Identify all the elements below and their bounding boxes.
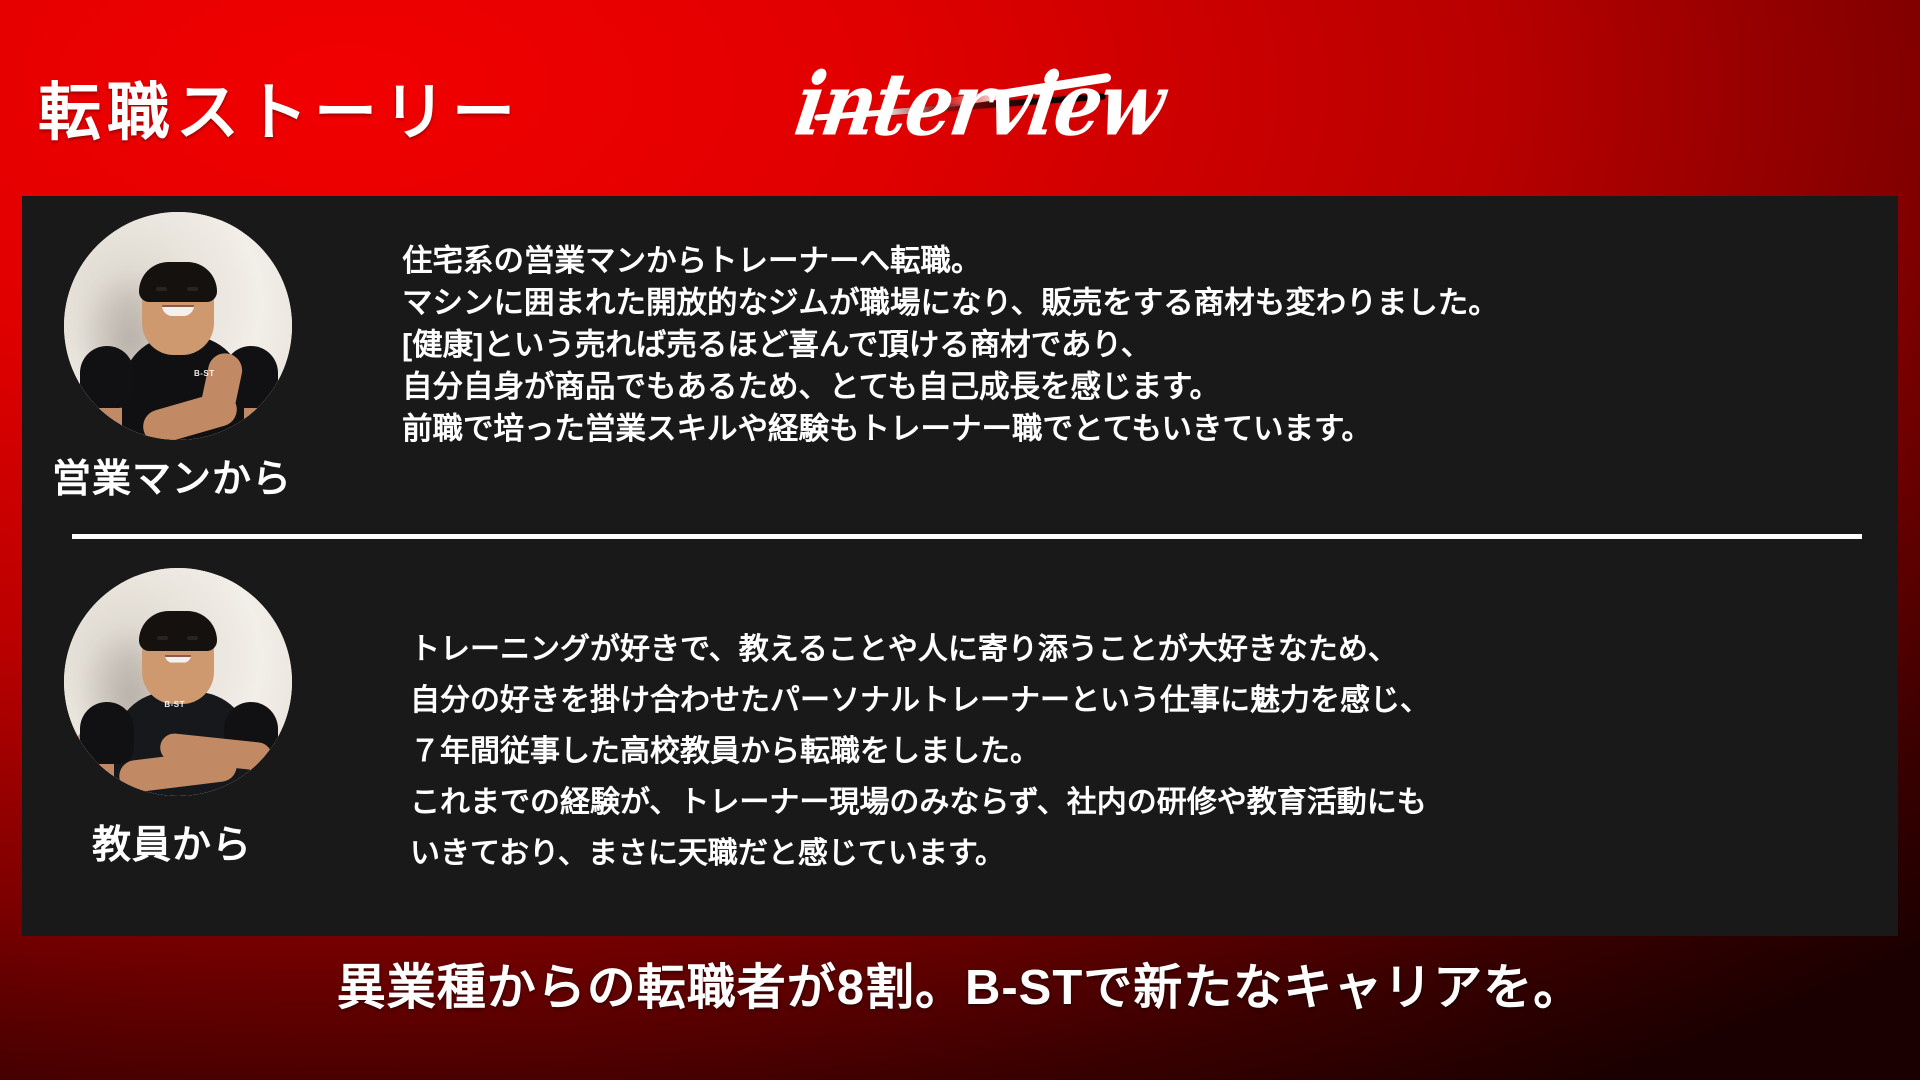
testimonial-text: 住宅系の営業マンからトレーナーへ転職。 マシンに囲まれた開放的なジムが職場になり…: [322, 196, 1898, 450]
quote-line: トレーニングが好きで、教えることや人に寄り添うことが大好きなため、: [410, 624, 1898, 675]
shirt-logo: B-ST: [164, 700, 185, 709]
testimonial-panel: B-ST 営業マンから 住宅系の営業マンからトレーナーへ転職。 マシンに囲まれた…: [22, 196, 1898, 936]
interview-script-logo: interview: [790, 70, 1120, 166]
person-label: 営業マンから: [22, 448, 322, 504]
quote-line: いきており、まさに天職だと感じています。: [410, 828, 1898, 879]
slide-root: 転職ストーリー interview: [0, 0, 1920, 1080]
quote-line: ７年間従事した高校教員から転職をしました。: [410, 726, 1898, 777]
photo-eye-left: [156, 287, 167, 291]
avatar: B-ST: [64, 212, 292, 440]
person-column: B-ST 営業マンから: [22, 196, 322, 538]
testimonial-text: トレーニングが好きで、教えることや人に寄り添うことが大好きなため、 自分の好きを…: [322, 546, 1898, 879]
photo-eye-right: [187, 636, 198, 640]
photo-eye-right: [187, 287, 198, 291]
testimonial-row: B-ST 営業マンから 住宅系の営業マンからトレーナーへ転職。 マシンに囲まれた…: [22, 196, 1898, 538]
avatar-photo-teacher-trainer: B-ST: [64, 568, 292, 796]
bottom-banner: 異業種からの転職者が8割。B-STで新たなキャリアを。: [0, 940, 1920, 1080]
banner-headline: 異業種からの転職者が8割。B-STで新たなキャリアを。: [337, 948, 1584, 1019]
interview-script-text: interview: [790, 61, 1169, 148]
testimonial-row: B-ST 教員から トレーニングが好きで、教えることや人に寄り添うことが大好きな…: [22, 546, 1898, 936]
photo-sleeve-left: [80, 346, 134, 408]
photo-sleeve-left: [80, 702, 134, 764]
quote-line: 前職で培った営業スキルや経験もトレーナー職でとてもいきています。: [402, 408, 1898, 450]
photo-hair: [139, 262, 217, 302]
header: 転職ストーリー interview: [0, 0, 1920, 196]
quote-line: 住宅系の営業マンからトレーナーへ転職。: [402, 240, 1898, 282]
person-column: B-ST 教員から: [22, 546, 322, 936]
quote-line: マシンに囲まれた開放的なジムが職場になり、販売をする商材も変わりました。: [402, 282, 1898, 324]
quote-line: 自分自身が商品でもあるため、とても自己成長を感じます。: [402, 366, 1898, 408]
photo-hair: [139, 611, 217, 651]
page-title: 転職ストーリー: [38, 82, 521, 145]
photo-smile: [165, 655, 191, 663]
quote-line: 自分の好きを掛け合わせたパーソナルトレーナーという仕事に魅力を感じ、: [410, 675, 1898, 726]
quote-line: これまでの経験が、トレーナー現場のみならず、社内の研修や教育活動にも: [410, 777, 1898, 828]
avatar-photo-sales-trainer: B-ST: [64, 212, 292, 440]
photo-eye-left: [157, 636, 168, 640]
person-label: 教員から: [22, 814, 322, 870]
quote-line: [健康]という売れば売るほど喜んで頂ける商材であり、: [402, 324, 1898, 366]
avatar: B-ST: [64, 568, 292, 796]
shirt-logo: B-ST: [194, 369, 215, 378]
